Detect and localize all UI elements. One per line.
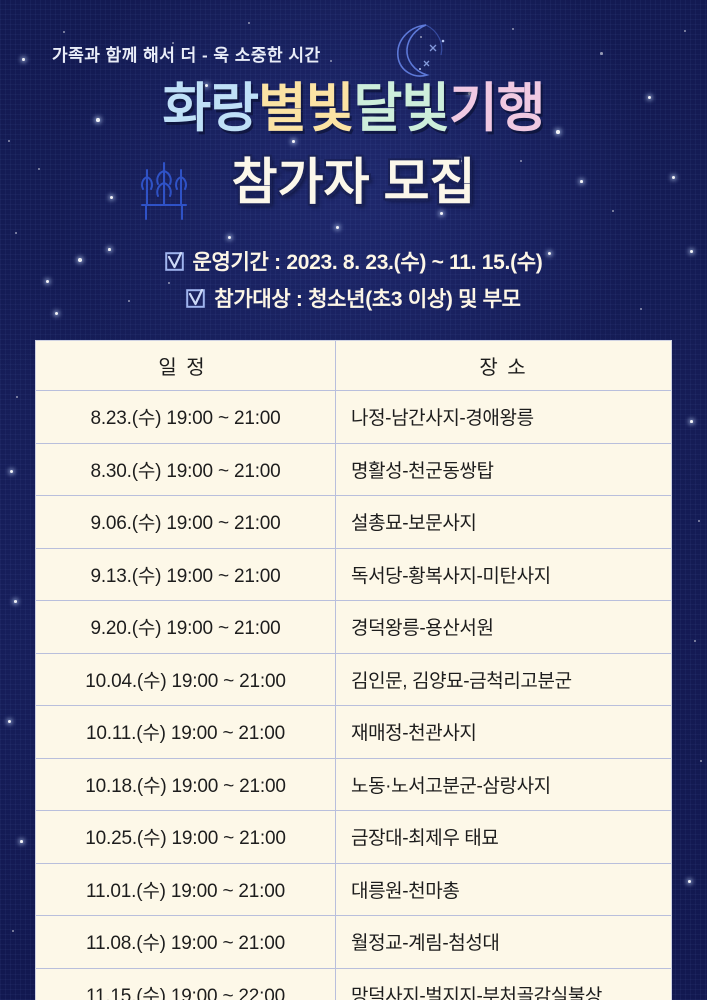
poster-tagline: 가족과 함께 해서 더 - 욱 소중한 시간 — [52, 41, 321, 66]
cell-place: 나정-남간사지-경애왕릉 — [336, 391, 671, 443]
cell-schedule: 10.18.(수) 19:00 ~ 21:00 — [36, 759, 336, 811]
event-poster: 가족과 함께 해서 더 - 욱 소중한 시간 화랑별빛달빛기행 — [0, 0, 707, 1000]
cell-place: 독서당-황복사지-미탄사지 — [336, 549, 671, 601]
cell-schedule: 10.25.(수) 19:00 ~ 21:00 — [36, 811, 336, 863]
info-text-audience: 참가대상 : 청소년(초3 이상) 및 부모 — [214, 283, 520, 313]
cell-place: 경덕왕릉-용산서원 — [336, 601, 671, 653]
table-row: 10.11.(수) 19:00 ~ 21:00재매정-천관사지 — [36, 706, 671, 759]
table-header-row: 일 정 장 소 — [36, 341, 671, 391]
checkbox-checked-icon — [186, 289, 205, 308]
column-header-schedule: 일 정 — [36, 341, 336, 390]
cell-schedule: 9.06.(수) 19:00 ~ 21:00 — [36, 496, 336, 548]
table-row: 10.18.(수) 19:00 ~ 21:00노동·노서고분군-삼랑사지 — [36, 759, 671, 812]
checkbox-checked-icon — [165, 252, 184, 271]
cell-schedule: 9.20.(수) 19:00 ~ 21:00 — [36, 601, 336, 653]
table-row: 11.08.(수) 19:00 ~ 21:00월정교-계림-첨성대 — [36, 916, 671, 969]
cell-schedule: 11.08.(수) 19:00 ~ 21:00 — [36, 916, 336, 968]
title-part-3: 달빛 — [354, 79, 450, 138]
info-text-period: 운영기간 : 2023. 8. 23.(수) ~ 11. 15.(수) — [193, 246, 543, 276]
cell-place: 명활성-천군동쌍탑 — [336, 444, 671, 496]
column-header-place: 장 소 — [336, 341, 671, 390]
table-row: 8.30.(수) 19:00 ~ 21:00명활성-천군동쌍탑 — [36, 444, 671, 497]
cell-place: 금장대-최제우 태묘 — [336, 811, 671, 863]
info-line-audience: 참가대상 : 청소년(초3 이상) 및 부모 — [186, 283, 520, 313]
cell-place: 망덕사지-벌지지-부처골감실불상 — [336, 969, 671, 1000]
table-row: 9.06.(수) 19:00 ~ 21:00설총묘-보문사지 — [36, 496, 671, 549]
table-row: 8.23.(수) 19:00 ~ 21:00나정-남간사지-경애왕릉 — [36, 391, 671, 444]
table-row: 11.01.(수) 19:00 ~ 21:00대릉원-천마총 — [36, 864, 671, 917]
cell-place: 월정교-계림-첨성대 — [336, 916, 671, 968]
cell-place: 노동·노서고분군-삼랑사지 — [336, 759, 671, 811]
cell-place: 대릉원-천마총 — [336, 864, 671, 916]
table-row: 9.13.(수) 19:00 ~ 21:00독서당-황복사지-미탄사지 — [36, 549, 671, 602]
cell-place: 설총묘-보문사지 — [336, 496, 671, 548]
cell-schedule: 8.23.(수) 19:00 ~ 21:00 — [36, 391, 336, 443]
cell-schedule: 8.30.(수) 19:00 ~ 21:00 — [36, 444, 336, 496]
title-part-1: 화랑 — [162, 79, 258, 138]
table-row: 10.25.(수) 19:00 ~ 21:00금장대-최제우 태묘 — [36, 811, 671, 864]
page-subtitle-heading: 참가자 모집 — [0, 155, 707, 210]
table-row: 10.04.(수) 19:00 ~ 21:00김인문, 김양묘-금척리고분군 — [36, 654, 671, 707]
cell-schedule: 10.04.(수) 19:00 ~ 21:00 — [36, 654, 336, 706]
title-part-2: 별빛 — [258, 79, 354, 138]
cell-schedule: 10.11.(수) 19:00 ~ 21:00 — [36, 706, 336, 758]
cell-schedule: 11.01.(수) 19:00 ~ 21:00 — [36, 864, 336, 916]
cell-schedule: 9.13.(수) 19:00 ~ 21:00 — [36, 549, 336, 601]
table-row: 9.20.(수) 19:00 ~ 21:00경덕왕릉-용산서원 — [36, 601, 671, 654]
table-body: 8.23.(수) 19:00 ~ 21:00나정-남간사지-경애왕릉8.30.(… — [36, 391, 671, 1000]
title-part-4: 기행 — [449, 79, 545, 138]
cell-place: 김인문, 김양묘-금척리고분군 — [336, 654, 671, 706]
crescent-moon-icon — [386, 17, 450, 83]
page-title: 화랑별빛달빛기행 — [0, 82, 707, 135]
info-line-period: 운영기간 : 2023. 8. 23.(수) ~ 11. 15.(수) — [165, 246, 543, 276]
schedule-table: 일 정 장 소 8.23.(수) 19:00 ~ 21:00나정-남간사지-경애… — [35, 340, 672, 1000]
cell-place: 재매정-천관사지 — [336, 706, 671, 758]
table-row: 11.15.(수) 19:00 ~ 22:00망덕사지-벌지지-부처골감실불상 — [36, 969, 671, 1000]
cell-schedule: 11.15.(수) 19:00 ~ 22:00 — [36, 969, 336, 1000]
event-info-list: 운영기간 : 2023. 8. 23.(수) ~ 11. 15.(수) 참가대상… — [0, 246, 707, 313]
